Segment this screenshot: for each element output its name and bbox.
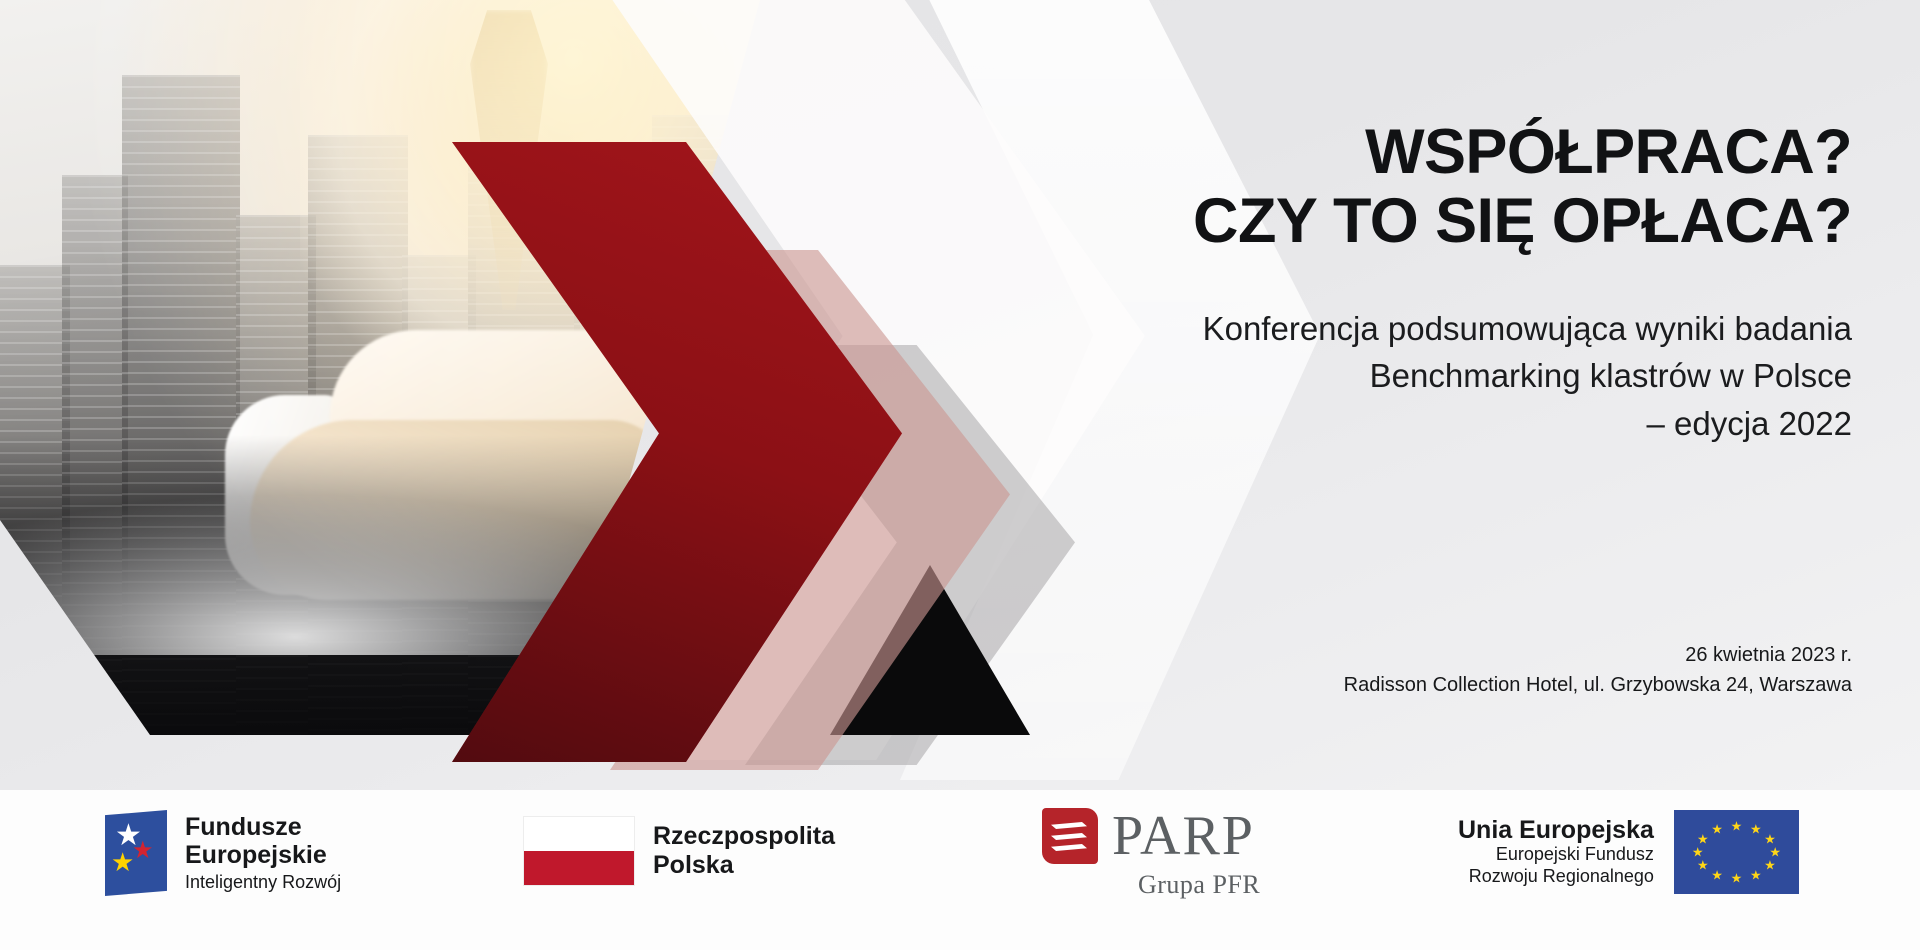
logo-unia-europejska: Unia Europejska Europejski Fundusz Rozwo… bbox=[1458, 810, 1799, 894]
eu-flag-icon: ★★★★★★★★★★★★ bbox=[1674, 810, 1799, 894]
logo-rzeczpospolita-polska: Rzeczpospolita Polska bbox=[523, 816, 835, 886]
fe-label-line-3: Inteligentny Rozwój bbox=[185, 872, 341, 894]
logo-parp: PARP Grupa PFR bbox=[1042, 808, 1260, 900]
ue-label-line-2: Europejski Fundusz bbox=[1458, 844, 1654, 866]
subtitle-line-3: – edycja 2022 bbox=[972, 400, 1852, 448]
page-title-line-1: WSPÓŁPRACA? bbox=[972, 118, 1852, 187]
parp-mark-icon bbox=[1042, 808, 1098, 864]
logo-fundusze-europejskie: ★ ★ ★ Fundusze Europejskie Inteligentny … bbox=[105, 810, 341, 896]
eu-star-icon: ★ bbox=[1692, 846, 1704, 859]
page-title-line-2: CZY TO SIĘ OPŁACA? bbox=[972, 187, 1852, 256]
subtitle-line-1: Konferencja podsumowująca wyniki badania bbox=[972, 305, 1852, 353]
parp-subline: Grupa PFR bbox=[1138, 870, 1260, 900]
eu-star-icon: ★ bbox=[1697, 859, 1709, 872]
ue-label-line-3: Rozwoju Regionalnego bbox=[1458, 866, 1654, 888]
eu-star-icon: ★ bbox=[1764, 859, 1776, 872]
polish-flag-icon bbox=[523, 816, 635, 886]
rp-label-line-2: Polska bbox=[653, 851, 835, 880]
event-meta: 26 kwietnia 2023 r. Radisson Collection … bbox=[972, 640, 1852, 701]
footer-logo-bar: ★ ★ ★ Fundusze Europejskie Inteligentny … bbox=[0, 790, 1920, 950]
eu-star-icon: ★ bbox=[1731, 819, 1743, 832]
ue-label-line-1: Unia Europejska bbox=[1458, 816, 1654, 845]
eu-star-icon: ★ bbox=[1731, 872, 1743, 885]
event-date: 26 kwietnia 2023 r. bbox=[972, 640, 1852, 670]
fe-label-line-1: Fundusze bbox=[185, 813, 341, 841]
eu-star-icon: ★ bbox=[1711, 823, 1723, 836]
poster-canvas: WSPÓŁPRACA? CZY TO SIĘ OPŁACA? Konferenc… bbox=[0, 0, 1920, 950]
subtitle-line-2: Benchmarking klastrów w Polsce bbox=[972, 352, 1852, 400]
eu-star-icon: ★ bbox=[1750, 823, 1762, 836]
event-venue: Radisson Collection Hotel, ul. Grzybowsk… bbox=[972, 670, 1852, 700]
rp-label-line-1: Rzeczpospolita bbox=[653, 822, 835, 851]
eu-star-icon: ★ bbox=[1697, 832, 1709, 845]
eu-star-icon: ★ bbox=[1711, 868, 1723, 881]
poster-text-block: WSPÓŁPRACA? CZY TO SIĘ OPŁACA? Konferenc… bbox=[972, 118, 1852, 447]
fe-flag-stars-icon: ★ ★ ★ bbox=[105, 810, 167, 896]
parp-wordmark: PARP bbox=[1112, 808, 1255, 864]
eu-star-icon: ★ bbox=[1750, 868, 1762, 881]
fe-label-line-2: Europejskie bbox=[185, 841, 341, 869]
